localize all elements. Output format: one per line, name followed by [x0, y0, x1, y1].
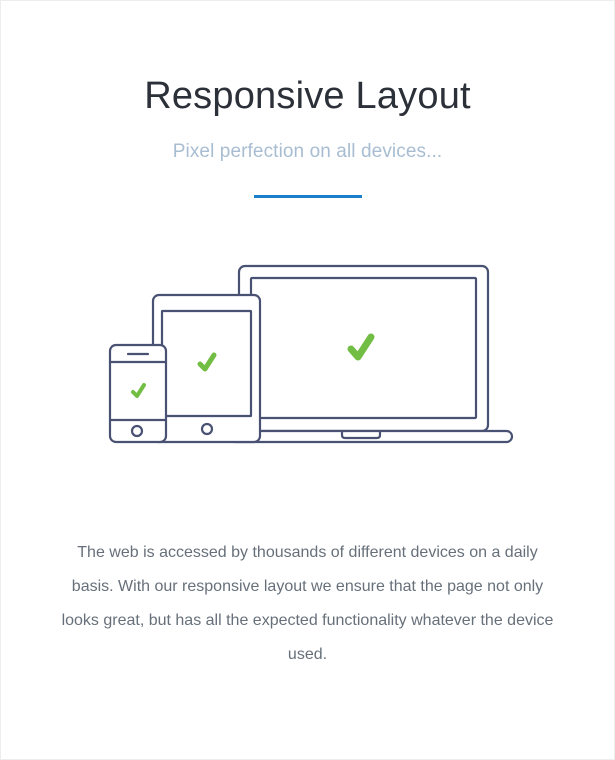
devices-svg: [1, 258, 615, 458]
devices-illustration: [1, 258, 615, 458]
body-paragraph: The web is accessed by thousands of diff…: [58, 458, 558, 672]
page-title: Responsive Layout: [1, 73, 614, 119]
header-section: Responsive Layout Pixel perfection on al…: [1, 1, 614, 198]
laptop-base: [229, 431, 512, 442]
page-subtitle: Pixel perfection on all devices...: [1, 119, 614, 165]
device-laptop: [229, 266, 512, 442]
title-divider: [254, 195, 362, 198]
responsive-layout-card: Responsive Layout Pixel perfection on al…: [0, 0, 615, 760]
